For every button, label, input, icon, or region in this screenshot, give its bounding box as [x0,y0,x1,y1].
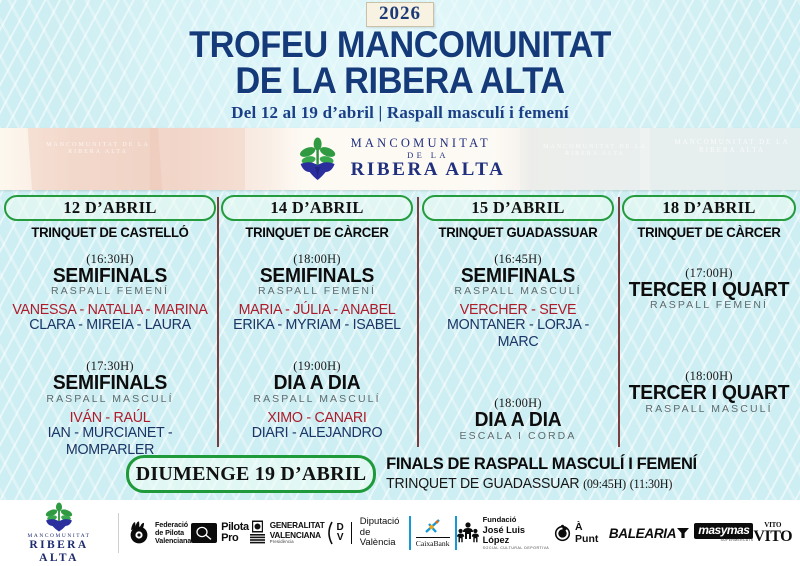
sponsor-label: Diputació de València [360,517,409,550]
match-type: SEMIFINALS [225,266,409,286]
photo-shirt-3 [520,128,640,190]
sponsor-a-punt[interactable]: À Punt [554,521,609,545]
match-4-1: (17:00H) TERCER I QUART RASPALL FEMENÍ [622,266,796,311]
match-category: RASPALL MASCULÍ [422,285,614,297]
match-type: SEMIFINALS [8,373,212,393]
ghost-watermark-3: MANCOMUNITAT DE LA RIBERA ALTA [672,138,792,154]
date-pill-4[interactable]: 18 D’ABRIL [622,195,796,221]
match-1-2: (17:30H) SEMIFINALS RASPALL MASCULÍ IVÁN… [4,359,216,457]
dv-bracket-icon [325,521,333,545]
sponsor-balearia[interactable]: BALEARIA [609,526,676,541]
sponsor-masymas[interactable]: masymas SUPERMERCATS [676,523,753,542]
sponsor-line1: Fundació [483,516,554,525]
sponsor-line2: de València [360,528,409,550]
match-2-2: (19:00H) DIA A DIA RASPALL MASCULÍ XIMO … [221,359,413,440]
column-divider-1 [217,197,219,447]
team-b: CLARA - MIREIA - LAURA [9,316,210,333]
sponsor-line2: VITO [753,530,792,544]
mancomunitat-logo: MANCOMUNITAT DE LA RIBERA ALTA [269,128,532,190]
venue-4: TRINQUET DE CÀRCER [625,225,794,240]
match-category: RASPALL FEMENÍ [4,285,216,297]
masymas-cup-icon [676,527,690,539]
team-b: ERIKA - MYRIAM - ISABEL [226,316,408,333]
match-category: RASPALL MASCULÍ [622,403,796,415]
venue-1: TRINQUET DE CASTELLÓ [7,225,213,240]
sponsor-footer: MANCOMUNITAT RIBERA ALTA Federació de Pi… [0,500,800,566]
sponsor-label: VITO VITO [753,522,792,544]
sponsor-line3: Presidència [270,540,325,545]
dv-letters: D V [337,523,344,542]
ribera-alta-leaf-icon [295,137,341,181]
match-category: RASPALL FEMENÍ [221,285,413,297]
sponsor-logos: Federació de Pilota Valenciana Pilota Pr… [119,516,800,550]
venue-2: TRINQUET DE CÀRCER [224,225,410,240]
match-category: RASPALL FEMENÍ [622,299,796,311]
poster-title-line1: TROFEU MANCOMUNITAT [28,26,772,63]
poster-title-line2: DE LA RIBERA ALTA [28,62,772,99]
sponsor-pilota-pro[interactable]: Pilota Pro [191,522,249,544]
match-category: RASPALL MASCULÍ [221,393,413,405]
poster-header: 2026 TROFEU MANCOMUNITAT DE LA RIBERA AL… [0,0,800,128]
poster: 2026 TROFEU MANCOMUNITAT DE LA RIBERA AL… [0,0,800,566]
footer-ribera-logo: MANCOMUNITAT RIBERA ALTA [0,502,118,564]
match-type: SEMIFINALS [426,266,610,286]
venue-3: TRINQUET GUADASSUAR [425,225,611,240]
sponsor-letter-v: V [337,533,344,543]
caixabank-star-icon [422,518,444,536]
finals-venue: TRINQUET DE GUADASSUAR [386,476,579,492]
match-type: DIA A DIA [225,373,409,393]
date-pill-1[interactable]: 12 D’ABRIL [4,195,216,221]
match-2-1: (18:00H) SEMIFINALS RASPALL FEMENÍ MARIA… [221,252,413,333]
schedule-column-2: 14 D’ABRIL TRINQUET DE CÀRCER (18:00H) S… [221,195,413,450]
sponsor-caixabank[interactable]: CaixaBank [409,516,457,550]
sponsor-line3: SOCIAL CULTURAL DEPORTIVA [483,546,554,550]
sponsor-label: Fundació José Luis López SOCIAL CULTURAL… [483,516,554,549]
finals-time-2: (11:30H) [630,477,672,491]
sponsor-fundacio-jose-luis-lopez[interactable]: Fundació José Luis López SOCIAL CULTURAL… [457,516,554,549]
sponsor-line3: Valenciana [155,537,191,545]
caixabank-mark-icon: CaixaBank [409,516,457,550]
match-type: DIA A DIA [426,410,610,430]
sponsor-line1: masymas [694,523,753,538]
match-type: TERCER I QUART [625,280,792,300]
match-3-1: (16:45H) SEMIFINALS RASPALL MASCULÍ VERC… [422,252,614,350]
sponsor-line1: GENERALITAT [270,521,325,530]
photo-shirt-2 [150,128,245,190]
match-type: TERCER I QUART [625,383,792,403]
finals-time-1: (09:45H) [583,477,626,491]
finals-strip: DIUMENGE 19 D’ABRIL FINALS DE RASPALL MA… [0,452,800,500]
date-pill-2[interactable]: 14 D’ABRIL [221,195,413,221]
footer-ribera-line2: ALTA [39,552,79,565]
people-figures-icon [457,521,479,545]
sponsor-line2: José Luis López [483,525,554,546]
sponsor-line1: À Punt [575,521,609,545]
racket-icon [195,526,213,540]
schedule-column-4: 18 D’ABRIL TRINQUET DE CÀRCER (17:00H) T… [622,195,796,450]
ghost-watermark-1: MANCOMUNITAT DE LA RIBERA ALTA [38,142,158,156]
mancomunitat-wordmark: MANCOMUNITAT DE LA RIBERA ALTA [351,137,506,180]
pilota-pro-mark-icon [191,523,217,543]
sponsor-label: GENERALITAT VALENCIANA Presidència [270,521,325,544]
sponsor-line1: CaixaBank [416,537,450,548]
sponsor-line2: Pro [221,533,249,544]
sponsor-vito[interactable]: VITO VITO [753,522,792,544]
match-type: SEMIFINALS [8,266,212,286]
team-b: MONTANER - LORJA - MARC [427,316,609,350]
dv-divider [351,522,352,544]
sponsor-line1: BALEARIA [609,526,676,541]
match-category: RASPALL MASCULÍ [4,393,216,405]
wordmark-line3: RIBERA ALTA [351,160,506,181]
schedule-grid: 12 D’ABRIL TRINQUET DE CASTELLÓ (16:30H)… [0,195,800,450]
team-b: DIARI - ALEJANDRO [226,424,408,441]
column-divider-3 [618,197,620,447]
ribera-alta-leaf-icon-small [42,502,76,532]
generalitat-crest-icon [249,520,266,546]
wordmark-line1: MANCOMUNITAT [351,137,506,151]
brand-band: MANCOMUNITAT DE LA RIBERA ALTA MANCOMUNI… [0,128,800,190]
date-pill-3[interactable]: 15 D’ABRIL [422,195,614,221]
match-3-2: (18:00H) DIA A DIA ESCALA I CORDA [422,396,614,441]
match-category: ESCALA I CORDA [422,430,614,442]
sponsor-label: Pilota Pro [221,522,249,544]
ghost-watermark-2: MANCOMUNITAT DE LA RIBERA ALTA [540,144,650,158]
sponsor-label: masymas SUPERMERCATS [694,523,753,542]
finals-details: TRINQUET DE GUADASSUAR (09:45H) (11:30H) [386,476,784,492]
schedule-column-3: 15 D’ABRIL TRINQUET GUADASSUAR (16:45H) … [422,195,614,450]
sponsor-line1: Diputació [360,517,409,528]
finals-date-pill[interactable]: DIUMENGE 19 D’ABRIL [126,455,376,493]
sponsor-label: Federació de Pilota Valenciana [155,521,191,545]
match-1-1: (16:30H) SEMIFINALS RASPALL FEMENÍ VANES… [4,252,216,333]
match-4-2: (18:00H) TERCER I QUART RASPALL MASCULÍ [622,369,796,414]
hand-ball-icon [127,521,151,545]
sponsor-generalitat-valenciana[interactable]: GENERALITAT VALENCIANA Presidència [249,520,325,546]
poster-subtitle: Del 12 al 19 d’abril | Raspall masculí i… [0,103,800,123]
a-punt-mark-icon [554,524,571,542]
footer-ribera-line1: RIBERA [29,539,88,552]
sponsor-diputacio-de-valencia[interactable]: D V Diputació de València [325,517,409,550]
sponsor-federacio-pilota-valenciana[interactable]: Federació de Pilota Valenciana [127,521,191,545]
photo-shirt-1 [27,128,163,190]
column-divider-2 [417,197,419,447]
schedule-column-1: 12 D’ABRIL TRINQUET DE CASTELLÓ (16:30H)… [4,195,216,450]
sponsor-line2: SUPERMERCATS [694,539,753,543]
finals-text: FINALS DE RASPALL MASCULÍ I FEMENÍ TRINQ… [380,454,790,492]
finals-title: FINALS DE RASPALL MASCULÍ I FEMENÍ [386,454,784,474]
